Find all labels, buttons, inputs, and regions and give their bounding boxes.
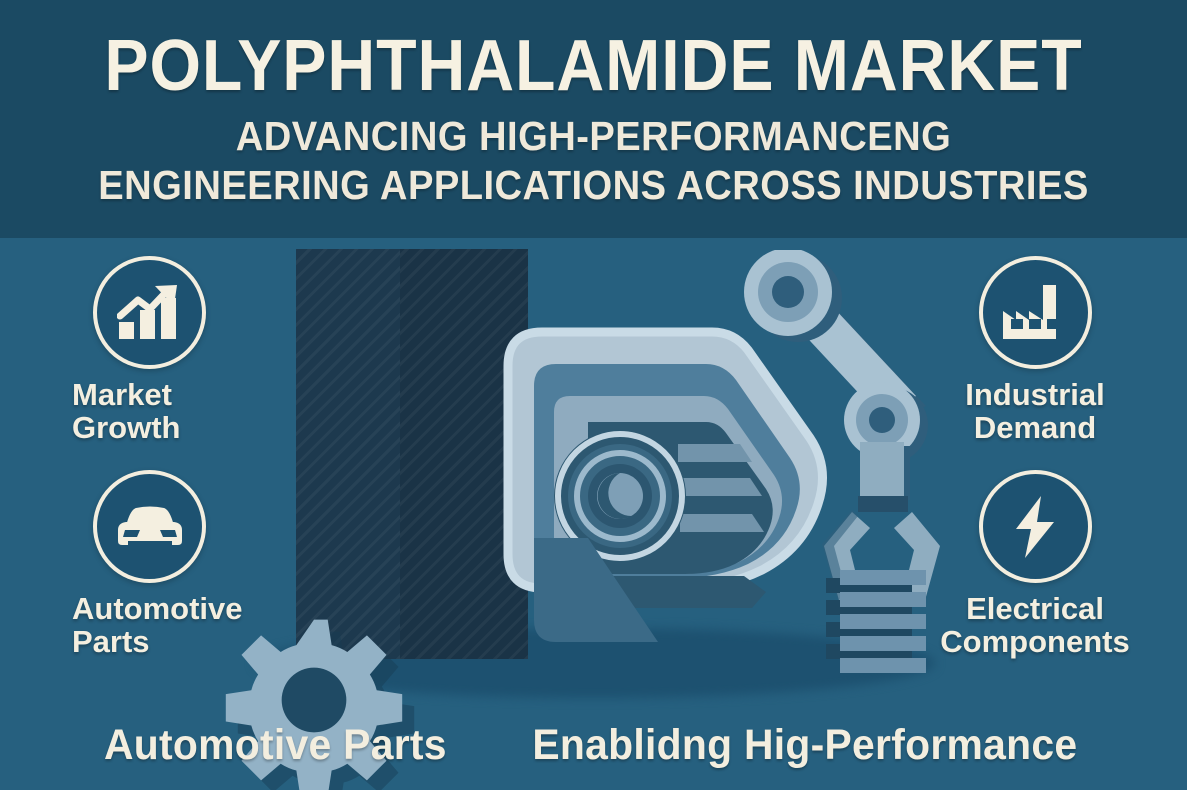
infographic-poster: POLYPHTHALAMIDE MARKET ADVANCING HIGH-PE… xyxy=(0,0,1187,790)
feature-label: Industrial Demand xyxy=(930,378,1140,444)
layered-material-stack-icon xyxy=(826,568,926,668)
feature-label: Automotive Parts xyxy=(68,592,278,658)
stack-layer xyxy=(840,636,926,651)
feature-electrical-components[interactable]: Electrical Components xyxy=(930,470,1140,658)
caption-right: Enablidng Hig-Performance xyxy=(532,721,1077,770)
subtitle-line-1: ADVANCING HIGH-PERFORMANCENG xyxy=(42,99,1146,159)
feature-automotive-parts[interactable]: Automotive Parts xyxy=(68,470,278,658)
page-title: POLYPHTHALAMIDE MARKET xyxy=(47,0,1139,99)
caption-row: Automotive Parts Enablidng Hig-Performan… xyxy=(0,700,1187,790)
feature-label: Electrical Components xyxy=(930,592,1140,658)
illustration-stage: Market Growth Automotive Parts xyxy=(0,238,1187,790)
market-growth-badge[interactable] xyxy=(93,256,206,369)
feature-industrial-demand[interactable]: Industrial Demand xyxy=(930,256,1140,444)
automotive-parts-badge[interactable] xyxy=(93,470,206,583)
background-slab-left xyxy=(296,249,400,659)
feature-label-line-2: Parts xyxy=(72,625,278,658)
feature-label: Market Growth xyxy=(68,378,278,444)
feature-market-growth[interactable]: Market Growth xyxy=(68,256,278,444)
stack-layer xyxy=(840,658,926,673)
stack-layer xyxy=(840,570,926,585)
header-band: POLYPHTHALAMIDE MARKET ADVANCING HIGH-PE… xyxy=(0,0,1187,238)
stack-layer xyxy=(840,614,926,629)
factory-icon xyxy=(1003,285,1067,341)
growth-chart-icon xyxy=(117,284,183,342)
feature-label-line-2: Components xyxy=(930,625,1140,658)
lightning-bolt-icon xyxy=(1013,495,1057,559)
feature-label-line-1: Industrial xyxy=(930,378,1140,411)
slab-hatch-pattern xyxy=(296,249,400,659)
feature-label-line-2: Demand xyxy=(930,411,1140,444)
caption-left: Automotive Parts xyxy=(104,721,447,770)
subtitle-line-2: ENGINEERING APPLICATIONS ACROSS INDUSTRI… xyxy=(42,160,1146,208)
feature-label-line-2: Growth xyxy=(72,411,278,444)
electrical-components-badge[interactable] xyxy=(979,470,1092,583)
feature-label-line-1: Market xyxy=(72,378,278,411)
feature-label-line-1: Automotive xyxy=(72,592,278,625)
feature-label-line-1: Electrical xyxy=(930,592,1140,625)
stack-layer xyxy=(840,592,926,607)
car-icon xyxy=(116,504,184,550)
industrial-demand-badge[interactable] xyxy=(979,256,1092,369)
